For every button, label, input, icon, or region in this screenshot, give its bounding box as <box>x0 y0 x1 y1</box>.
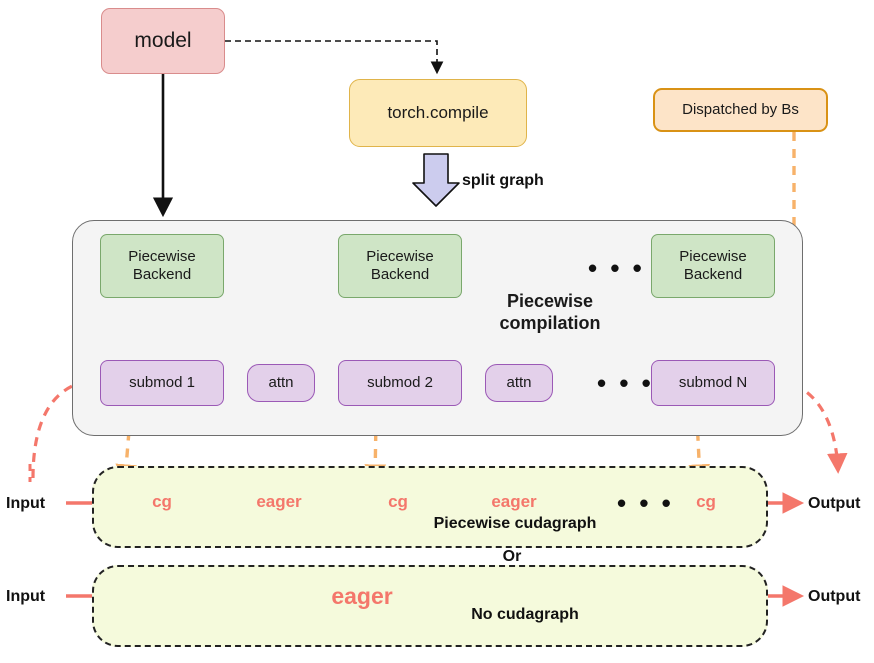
submod-2-label: submod 2 <box>367 374 433 392</box>
attn-box-1-label: attn <box>268 374 293 392</box>
no-cudagraph-label: No cudagraph <box>450 606 600 624</box>
piecewise-compilation-title-line1: Piecewise <box>507 291 593 313</box>
piecewise-backend-n-line2: Backend <box>684 266 742 284</box>
submod-1-box[interactable]: submod 1 <box>100 360 224 406</box>
input-label-piecewise: Input <box>6 495 45 513</box>
model-label: model <box>134 28 191 53</box>
no-cudagraph-band <box>92 565 768 647</box>
submod-n-box[interactable]: submod N <box>651 360 775 406</box>
piecewise-backend-2[interactable]: Piecewise Backend <box>338 234 462 298</box>
piecewise-backend-n[interactable]: Piecewise Backend <box>651 234 775 298</box>
attn-box-2[interactable]: attn <box>485 364 553 402</box>
torch-compile-label: torch.compile <box>387 103 488 123</box>
input-label-eager: Input <box>6 588 45 606</box>
piecewise-compilation-title-line2: compilation <box>499 313 600 335</box>
cudagraph-stage-cg-3: cg <box>684 492 728 512</box>
dispatched-by-bs-label: Dispatched by Bs <box>682 101 799 119</box>
submod-1-label: submod 1 <box>129 374 195 392</box>
split-graph-label: split graph <box>462 172 544 190</box>
piecewise-backend-1-line2: Backend <box>133 266 191 284</box>
cudagraph-stage-cg-1: cg <box>140 492 184 512</box>
submod-n-label: submod N <box>679 374 747 392</box>
dispatched-by-bs-box[interactable]: Dispatched by Bs <box>653 88 828 132</box>
submod-ellipsis-icon: • • • <box>597 370 654 396</box>
attn-box-2-label: attn <box>506 374 531 392</box>
model-box[interactable]: model <box>101 8 225 74</box>
cudagraph-stage-eager-2: eager <box>476 492 552 512</box>
piecewise-compilation-title: Piecewise compilation <box>465 289 635 337</box>
cudagraph-stage-cg-2: cg <box>376 492 420 512</box>
cudagraph-ellipsis-icon: • • • <box>617 490 674 516</box>
piecewise-backend-1[interactable]: Piecewise Backend <box>100 234 224 298</box>
eager-stage-label: eager <box>318 583 406 610</box>
piecewise-backend-n-line1: Piecewise <box>679 248 747 266</box>
piecewise-cudagraph-label: Piecewise cudagraph <box>420 515 610 533</box>
output-label-eager: Output <box>808 588 860 606</box>
piecewise-backend-1-line1: Piecewise <box>128 248 196 266</box>
piecewise-backend-2-line1: Piecewise <box>366 248 434 266</box>
submod-2-box[interactable]: submod 2 <box>338 360 462 406</box>
or-label: Or <box>492 548 532 566</box>
attn-box-1[interactable]: attn <box>247 364 315 402</box>
output-label-piecewise: Output <box>808 495 860 513</box>
piecewise-backend-2-line2: Backend <box>371 266 429 284</box>
torch-compile-box[interactable]: torch.compile <box>349 79 527 147</box>
cudagraph-stage-eager-1: eager <box>241 492 317 512</box>
backend-ellipsis-icon: • • • <box>588 255 645 281</box>
diagram-canvas: model torch.compile Dispatched by Bs spl… <box>0 0 874 663</box>
